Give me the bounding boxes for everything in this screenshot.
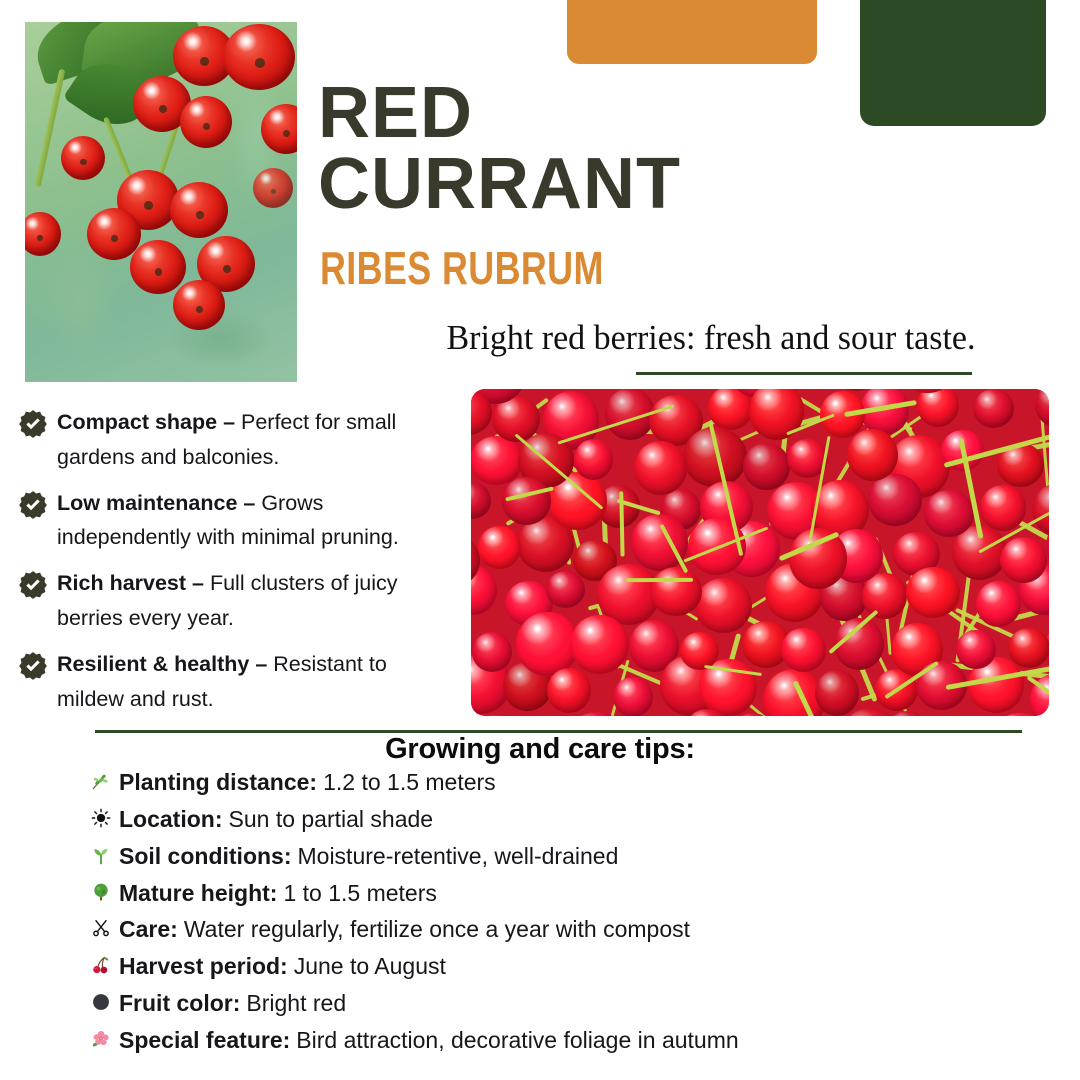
tip-row: Location: Sun to partial shade [88, 804, 1048, 834]
berry-shape [223, 24, 295, 90]
tip-row: Soil conditions: Moisture-retentive, wel… [88, 841, 1048, 871]
check-badge-icon [18, 651, 48, 681]
tip-value: Bright red [246, 988, 346, 1018]
berry-shape [547, 668, 592, 713]
berry-shape [906, 567, 960, 618]
tip-label: Location: [119, 804, 223, 834]
list-item: Resilient & healthy – Resistant to milde… [18, 647, 458, 717]
herb-branch-icon [88, 771, 113, 791]
tip-value: 1 to 1.5 meters [283, 878, 436, 908]
seedling-icon [88, 845, 113, 865]
list-item: Compact shape – Perfect for small garden… [18, 405, 458, 475]
dark-circle-icon [88, 992, 113, 1012]
stem-shape [619, 491, 625, 557]
berry-shape [180, 96, 232, 148]
berry-shape [253, 168, 293, 208]
berry-shape [61, 136, 105, 180]
check-badge-icon [18, 490, 48, 520]
berry-shape [502, 477, 551, 525]
tree-icon [88, 882, 113, 902]
tip-value: 1.2 to 1.5 meters [323, 767, 496, 797]
berry-shape [567, 712, 627, 716]
berry-shape [1035, 389, 1049, 427]
list-item-title: Resilient & healthy – [57, 652, 267, 676]
berry-shape [680, 632, 719, 670]
poster-canvas: RED CURRANT RIBES RUBRUM Bright red berr… [0, 0, 1080, 1080]
sun-icon [88, 808, 113, 828]
tip-value: Sun to partial shade [229, 804, 434, 834]
berry-shape [478, 526, 520, 569]
scissors-icon [88, 918, 113, 938]
tip-label: Planting distance: [119, 767, 317, 797]
berry-shape [924, 490, 974, 537]
tagline-divider [636, 372, 972, 375]
benefits-list: Compact shape – Perfect for small garden… [18, 405, 458, 728]
berry-shape [471, 482, 491, 518]
berry-shape [781, 628, 826, 672]
tip-label: Harvest period: [119, 951, 288, 981]
cherries-icon [88, 955, 113, 975]
tip-row: Care: Water regularly, fertilize once a … [88, 914, 1048, 944]
berry-shape [847, 429, 898, 481]
list-item-title: Low maintenance – [57, 491, 255, 515]
berry-shape [868, 474, 921, 525]
berry-shape [472, 632, 513, 672]
berry-shape [570, 615, 629, 674]
berry-shape [743, 443, 790, 490]
berry-shape [472, 715, 518, 716]
orange-rounded-block [567, 0, 817, 64]
tip-value: Water regularly, fertilize once a year w… [184, 914, 690, 944]
berry-shape [634, 441, 687, 495]
tips-heading: Growing and care tips: [0, 733, 1080, 766]
berry-shape [1008, 628, 1049, 668]
berry-shape [130, 240, 186, 294]
hibiscus-flower-icon [88, 1029, 113, 1049]
tip-label: Mature height: [119, 878, 277, 908]
berry-shape [1000, 537, 1047, 583]
list-item: Low maintenance – Grows independently wi… [18, 486, 458, 556]
berry-shape [917, 389, 959, 427]
list-item-text: Rich harvest – Full clusters of juicy be… [57, 566, 458, 636]
main-berry-photo [471, 389, 1049, 716]
tip-row: Mature height: 1 to 1.5 meters [88, 878, 1048, 908]
scientific-name: RIBES RUBRUM [320, 241, 604, 295]
tip-label: Care: [119, 914, 178, 944]
berry-shape [87, 208, 141, 260]
check-badge-icon [18, 570, 48, 600]
berry-shape [613, 677, 653, 716]
berry-shape [956, 630, 995, 669]
berry-shape [973, 389, 1014, 428]
tip-value: June to August [294, 951, 446, 981]
tip-row: Planting distance: 1.2 to 1.5 meters [88, 767, 1048, 797]
hero-berry-photo [25, 22, 297, 382]
berry-shape [887, 711, 928, 716]
berry-shape [815, 670, 859, 716]
list-item-title: Compact shape – [57, 410, 235, 434]
list-item: Rich harvest – Full clusters of juicy be… [18, 566, 458, 636]
title-line-1: RED [318, 78, 1018, 149]
stem-shape [626, 577, 693, 581]
title-line-2: CURRANT [318, 149, 1018, 220]
tagline: Bright red berries: fresh and sour taste… [433, 318, 990, 358]
tip-label: Special feature: [119, 1025, 290, 1055]
tip-row: Fruit color: Bright red [88, 988, 1048, 1018]
tips-list: Planting distance: 1.2 to 1.5 meters Loc… [88, 767, 1048, 1062]
berry-shape [650, 567, 702, 616]
page-title: RED CURRANT [318, 78, 1018, 221]
list-item-text: Compact shape – Perfect for small garden… [57, 405, 458, 475]
check-badge-icon [18, 409, 48, 439]
berry-shape [546, 571, 585, 608]
tip-label: Fruit color: [119, 988, 240, 1018]
tip-row: Special feature: Bird attraction, decora… [88, 1025, 1048, 1055]
tip-value: Bird attraction, decorative foliage in a… [296, 1025, 738, 1055]
berry-shape [173, 280, 225, 330]
berry-shape [574, 439, 613, 479]
list-item-title: Rich harvest – [57, 571, 204, 595]
berry-shape [471, 436, 523, 485]
tip-label: Soil conditions: [119, 841, 292, 871]
berry-shape [980, 485, 1026, 531]
berry-shape [695, 578, 752, 633]
tip-value: Moisture-retentive, well-drained [298, 841, 619, 871]
list-item-text: Resilient & healthy – Resistant to milde… [57, 647, 458, 717]
berry-shape [789, 528, 847, 588]
berry-shape [170, 182, 228, 238]
list-item-text: Low maintenance – Grows independently wi… [57, 486, 458, 556]
tip-row: Harvest period: June to August [88, 951, 1048, 981]
